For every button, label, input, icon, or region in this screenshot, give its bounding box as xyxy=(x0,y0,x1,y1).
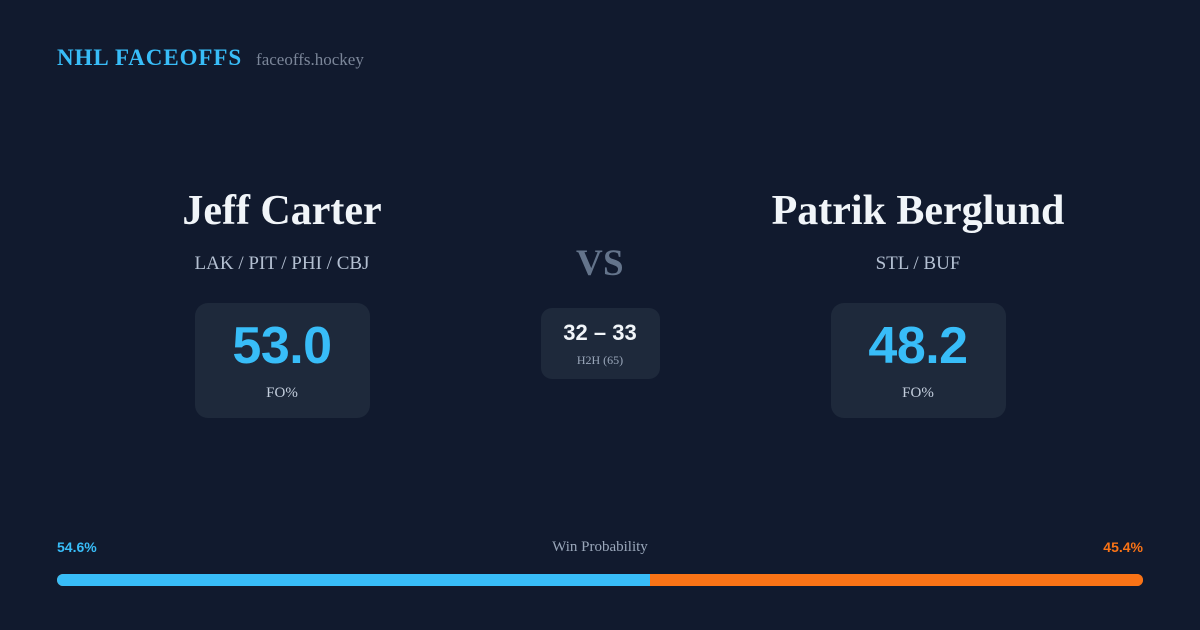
head-to-head-card: 32 – 33 H2H (65) xyxy=(541,308,660,379)
brand-header: NHL FACEOFFS faceoffs.hockey xyxy=(57,46,364,69)
win-probability-title: Win Probability xyxy=(57,540,1143,555)
versus-block: VS 32 – 33 H2H (65) xyxy=(500,190,700,379)
player-card-right: Patrik Berglund STL / BUF 48.2 FO% xyxy=(698,190,1138,418)
brand-domain: faceoffs.hockey xyxy=(256,51,364,68)
win-probability-labels: 54.6% Win Probability 45.4% xyxy=(57,540,1143,558)
win-probability-right-value: 45.4% xyxy=(1103,540,1143,554)
win-probability-bar-right-segment xyxy=(650,574,1143,586)
faceoff-stat-card-right: 48.2 FO% xyxy=(831,303,1006,418)
faceoff-label-left: FO% xyxy=(266,386,298,401)
player-card-left: Jeff Carter LAK / PIT / PHI / CBJ 53.0 F… xyxy=(62,190,502,418)
player-name-left: Jeff Carter xyxy=(182,190,381,232)
player-teams-left: LAK / PIT / PHI / CBJ xyxy=(195,254,370,273)
head-to-head-label: H2H (65) xyxy=(577,354,623,366)
win-probability-bar xyxy=(57,574,1143,586)
versus-label: VS xyxy=(576,245,624,282)
brand-name: NHL FACEOFFS xyxy=(57,46,242,69)
matchup-section: Jeff Carter LAK / PIT / PHI / CBJ 53.0 F… xyxy=(0,190,1200,430)
faceoff-stat-card-left: 53.0 FO% xyxy=(195,303,370,418)
player-name-right: Patrik Berglund xyxy=(772,190,1065,232)
faceoff-percent-left: 53.0 xyxy=(232,320,331,372)
player-teams-right: STL / BUF xyxy=(876,254,961,273)
faceoff-percent-right: 48.2 xyxy=(868,320,967,372)
win-probability-bar-left-segment xyxy=(57,574,650,586)
faceoff-label-right: FO% xyxy=(902,386,934,401)
win-probability-section: 54.6% Win Probability 45.4% xyxy=(57,540,1143,586)
head-to-head-score: 32 – 33 xyxy=(563,322,636,344)
